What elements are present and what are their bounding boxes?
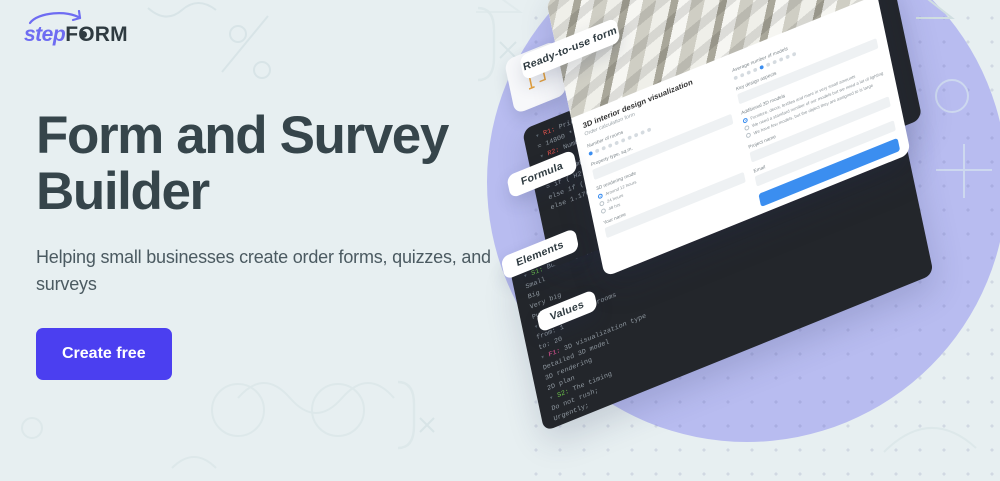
arc-bottom-icon — [172, 457, 216, 468]
create-free-button[interactable]: Create free — [36, 328, 172, 380]
page-title: Form and Survey Builder — [36, 108, 506, 220]
times-bottom-icon — [420, 418, 434, 432]
logo-step-text: step — [24, 23, 65, 47]
times-bottom2-icon — [420, 418, 434, 432]
infinity-right-icon — [312, 384, 364, 436]
hero-section: step FORM Form and Survey Builder Helpin… — [0, 0, 1000, 481]
integral-top-icon — [478, 8, 494, 80]
hero-subtitle: Helping small businesses create order fo… — [36, 244, 506, 298]
logo-form-text: FORM — [65, 23, 128, 47]
infinity-wave-icon — [238, 383, 394, 413]
percent-top-circle-icon — [230, 26, 246, 42]
logo-o-dot-icon — [80, 31, 87, 38]
percent-bottom-circle-icon — [254, 62, 270, 78]
product-illustration: ▾ S1: Building type Small Big Very big P… — [500, 0, 1000, 481]
infinity-left-icon — [212, 384, 264, 436]
integral-bottom-icon — [398, 382, 414, 448]
percent-slash-icon — [222, 16, 268, 72]
small-circle-icon — [22, 418, 42, 438]
tilde-icon — [148, 3, 216, 17]
brand-logo[interactable]: step FORM — [24, 20, 128, 50]
hero-copy: Form and Survey Builder Helping small bu… — [36, 108, 506, 380]
